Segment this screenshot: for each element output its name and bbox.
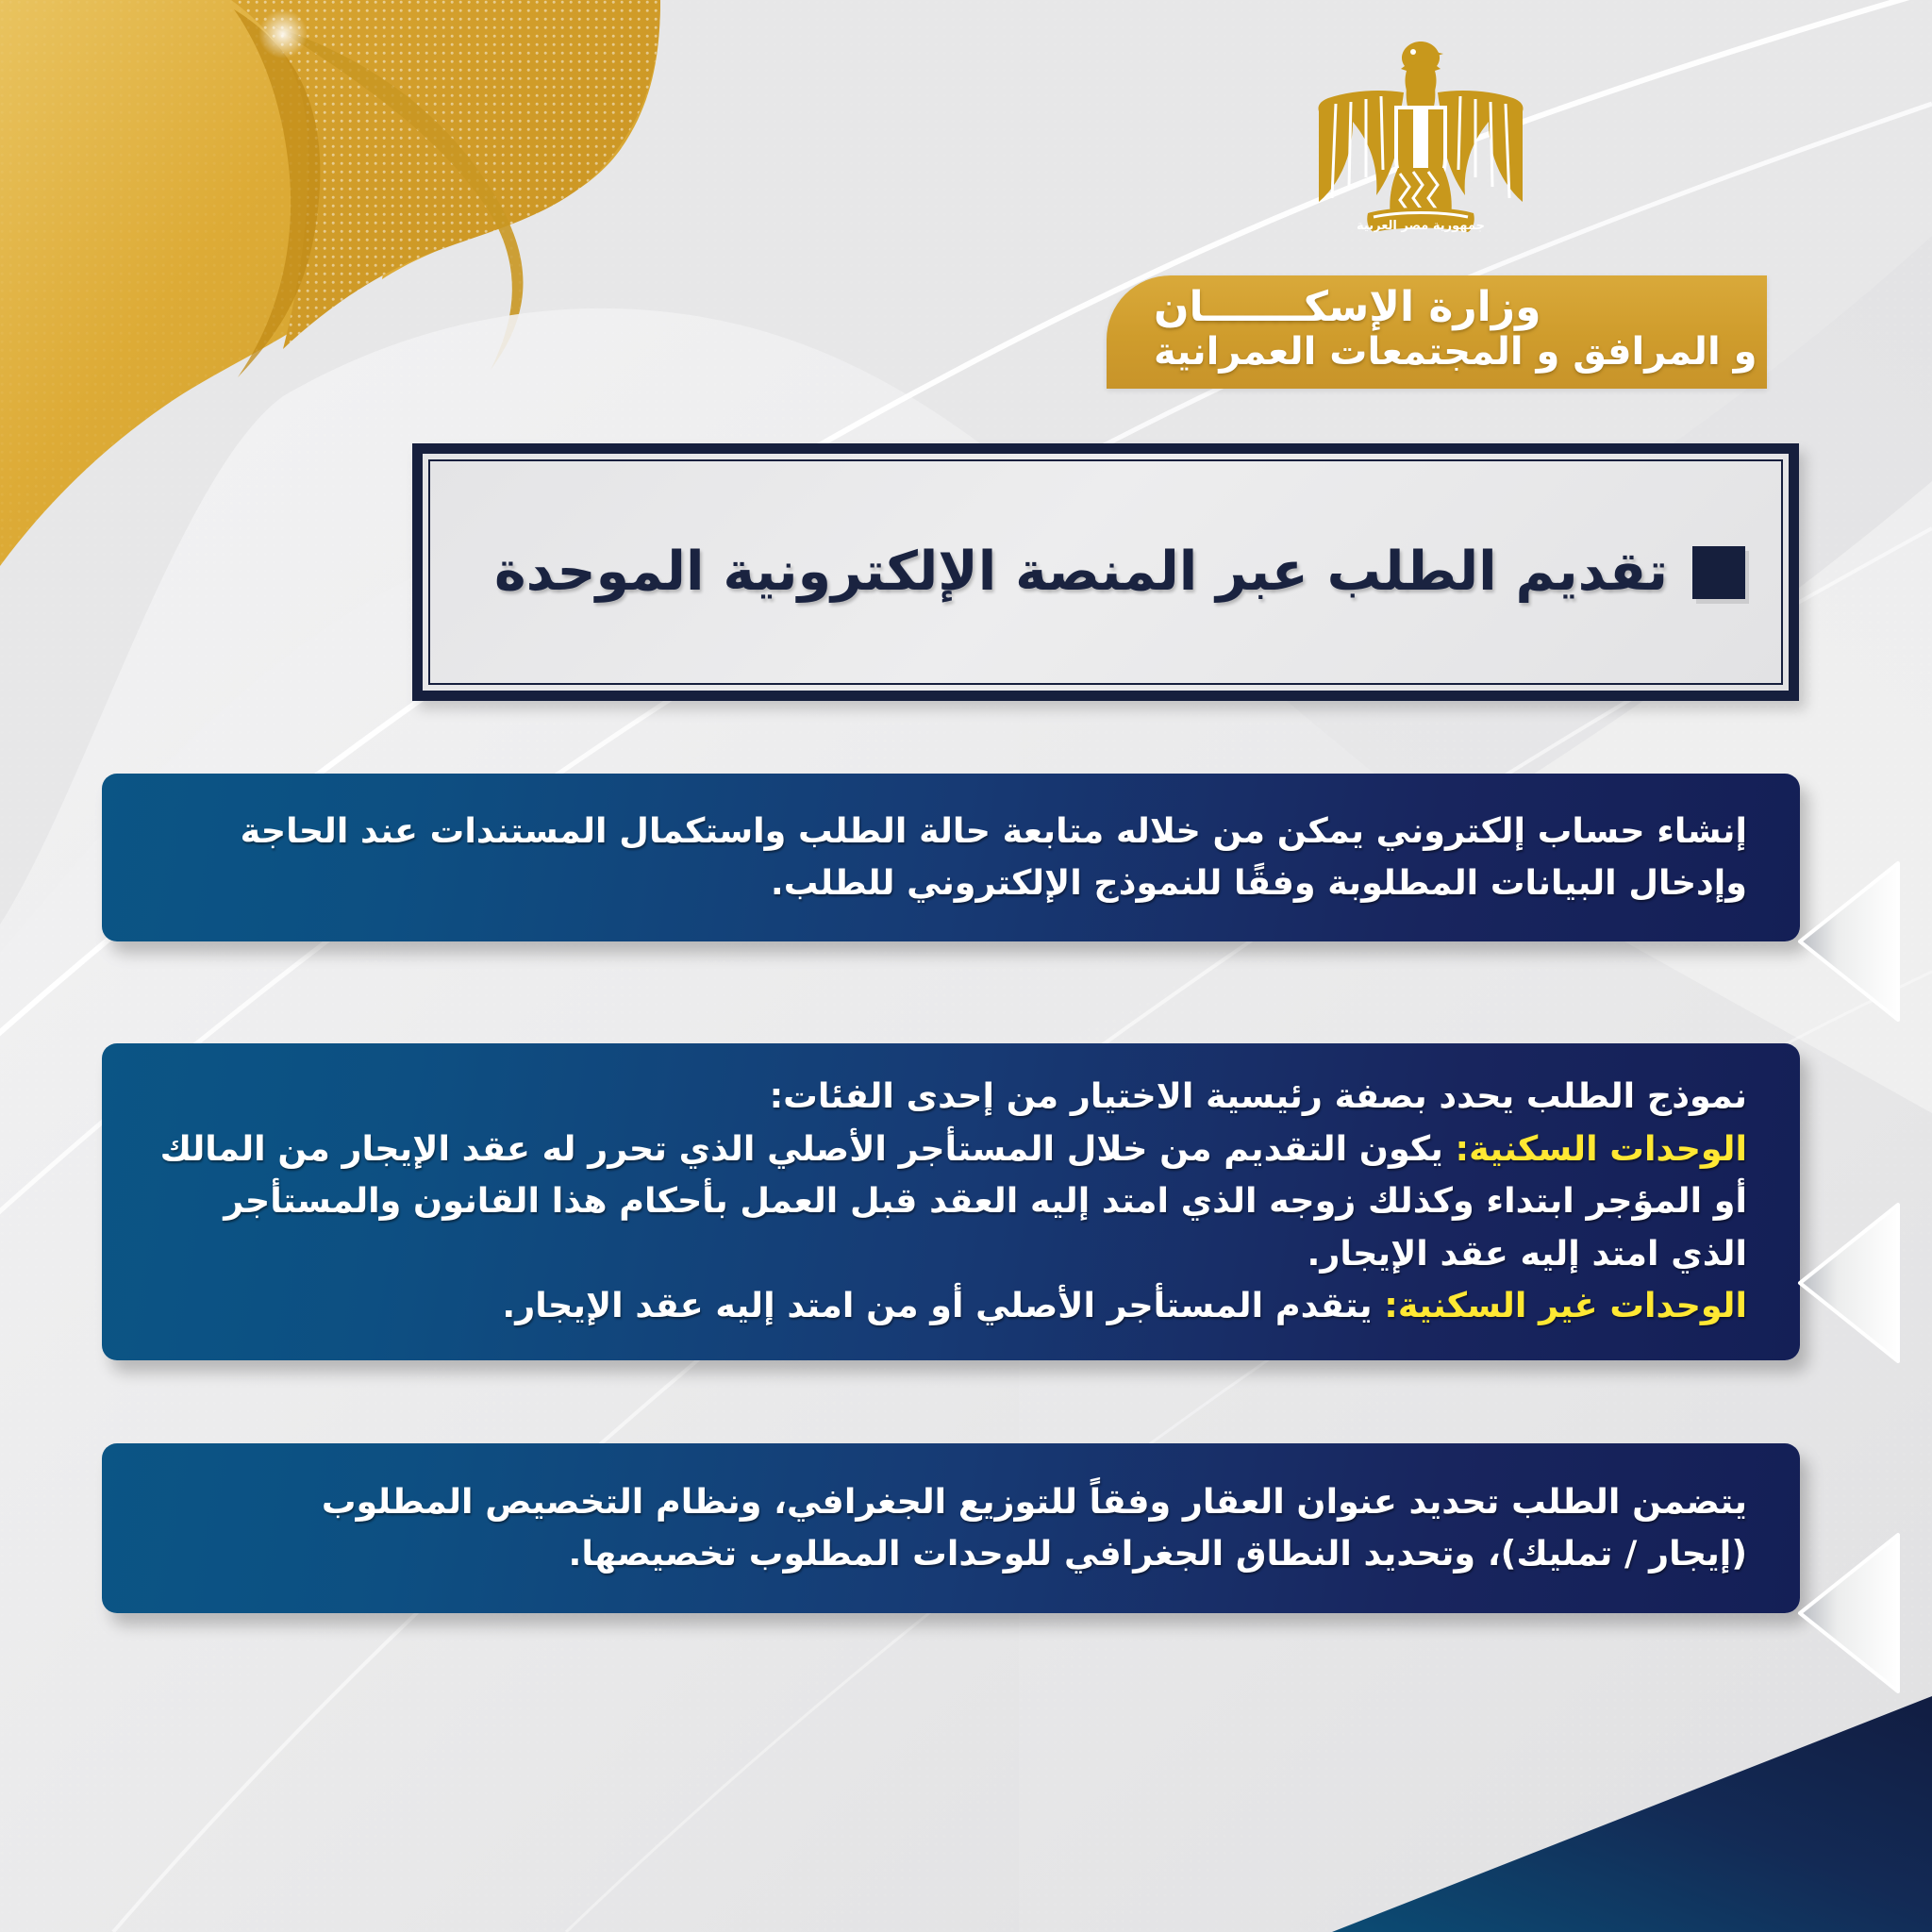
- ministry-name-banner: وزارة الإسكـــــــان و المرافق و المجتمع…: [1107, 275, 1767, 389]
- card-2-line-1: نموذج الطلب يحدد بصفة رئيسية الاختيار من…: [145, 1070, 1747, 1122]
- application-form-categories-card: نموذج الطلب يحدد بصفة رئيسية الاختيار من…: [102, 1043, 1800, 1360]
- body-text: يتقدم المستأجر الأصلي أو من امتد إليه عق…: [502, 1285, 1384, 1325]
- body-text: نموذج الطلب يحدد بصفة رئيسية الاختيار من…: [770, 1075, 1747, 1116]
- body-text: (إيجار / تمليك)، وتحديد النطاق الجغرافي …: [569, 1533, 1747, 1574]
- body-text: يتضمن الطلب تحديد عنوان العقار وفقاً للت…: [322, 1481, 1747, 1522]
- electronic-account-card: إنشاء حساب إلكتروني يمكن من خلاله متابعة…: [102, 774, 1800, 941]
- card-1-text: إنشاء حساب إلكتروني يمكن من خلاله متابعة…: [145, 805, 1747, 909]
- emblem-caption: جمهورية مصر العربية: [1357, 219, 1485, 233]
- card-2-wrapper: نموذج الطلب يحدد بصفة رئيسية الاختيار من…: [102, 1043, 1800, 1360]
- page-title-box: تقديم الطلب عبر المنصة الإلكترونية الموح…: [412, 443, 1799, 701]
- card-3-line-1: يتضمن الطلب تحديد عنوان العقار وفقاً للت…: [145, 1475, 1747, 1527]
- ministry-line-1: وزارة الإسكـــــــان: [1154, 287, 1541, 333]
- highlighted-term: الوحدات غير السكنية:: [1384, 1285, 1747, 1325]
- egypt-eagle-emblem: جمهورية مصر العربية: [1307, 36, 1534, 239]
- card-1-line-2: وإدخال البيانات المطلوبة وفقًا للنموذج ا…: [145, 857, 1747, 908]
- property-address-allocation-card: يتضمن الطلب تحديد عنوان العقار وفقاً للت…: [102, 1443, 1800, 1613]
- card-3-text: يتضمن الطلب تحديد عنوان العقار وفقاً للت…: [145, 1475, 1747, 1580]
- card-2-line-3: الوحدات غير السكنية: يتقدم المستأجر الأص…: [145, 1279, 1747, 1331]
- page-title: تقديم الطلب عبر المنصة الإلكترونية الموح…: [494, 541, 1668, 604]
- body-text: إنشاء حساب إلكتروني يمكن من خلاله متابعة…: [241, 810, 1747, 851]
- card-1-line-1: إنشاء حساب إلكتروني يمكن من خلاله متابعة…: [145, 805, 1747, 857]
- card-2-text: نموذج الطلب يحدد بصفة رئيسية الاختيار من…: [145, 1070, 1747, 1331]
- infographic-canvas: جمهورية مصر العربية وزارة الإسكـــــــان…: [0, 0, 1932, 1932]
- square-bullet-icon: [1692, 546, 1745, 599]
- card-3-line-2: (إيجار / تمليك)، وتحديد النطاق الجغرافي …: [145, 1527, 1747, 1579]
- card-2-line-2: الوحدات السكنية: يكون التقديم من خلال ال…: [145, 1123, 1747, 1279]
- ministry-line-2: و المرافق و المجتمعات العمرانية: [1154, 333, 1757, 372]
- card-3-wrapper: يتضمن الطلب تحديد عنوان العقار وفقاً للت…: [102, 1443, 1800, 1613]
- body-text: وإدخال البيانات المطلوبة وفقًا للنموذج ا…: [771, 862, 1747, 903]
- highlighted-term: الوحدات السكنية:: [1455, 1128, 1747, 1169]
- card-1-wrapper: إنشاء حساب إلكتروني يمكن من خلاله متابعة…: [102, 774, 1800, 941]
